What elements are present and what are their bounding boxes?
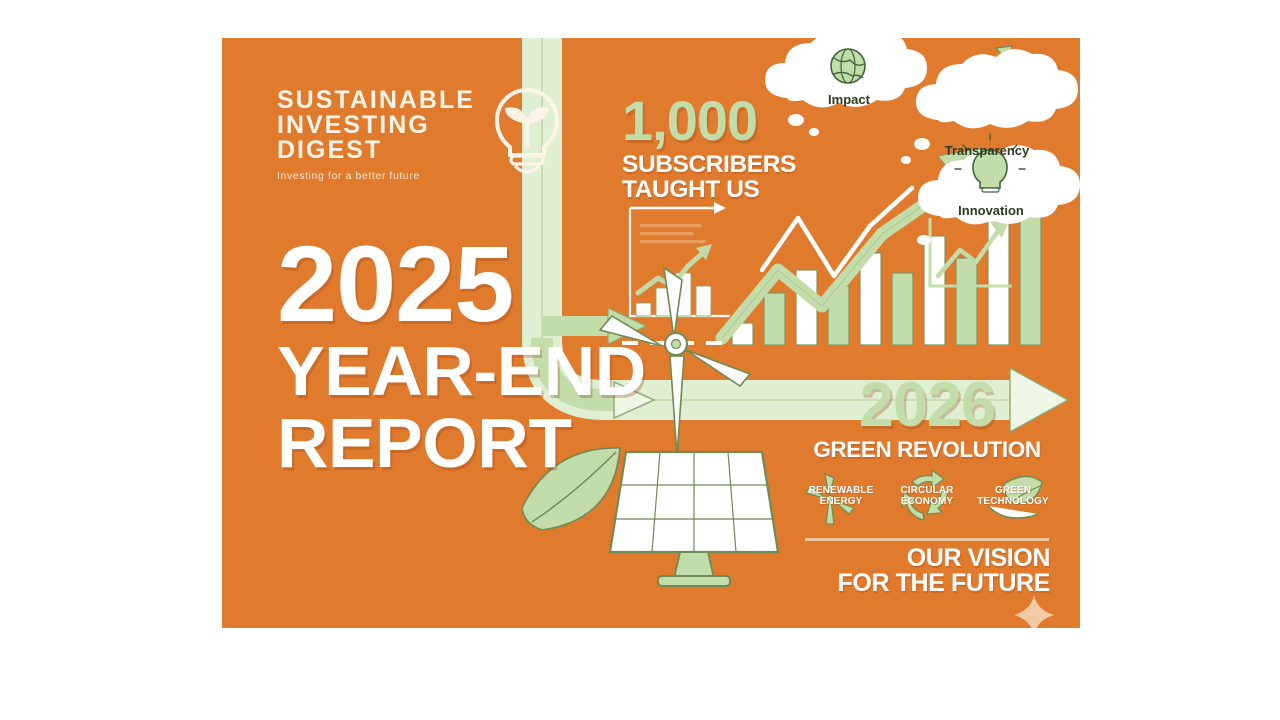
- pillar-green-technology[interactable]: GREEN TECHNOLOGY: [974, 483, 1052, 507]
- pillar-2-label-2: TECHNOLOGY: [974, 496, 1052, 507]
- pillars-group: RENEWABLE ENERGY CIRCULAR ECONOMY GREEN …: [802, 483, 1052, 507]
- future-subtitle: GREEN REVOLUTION: [802, 438, 1052, 461]
- pillar-0-label-2: ENERGY: [802, 496, 880, 507]
- future-year-block: 2026 GREEN REVOLUTION: [802, 378, 1052, 461]
- vision-line-2: FOR THE FUTURE: [782, 571, 1050, 596]
- pillar-1-label-2: ECONOMY: [888, 496, 966, 507]
- pillar-0-label-1: RENEWABLE: [802, 485, 880, 496]
- vision-line-1: OUR VISION: [782, 546, 1050, 571]
- pillar-1-label-1: CIRCULAR: [888, 485, 966, 496]
- four-point-sparkle-icon: [1012, 593, 1056, 628]
- lightbulb-sprout-icon: [481, 84, 573, 184]
- horizontal-rule: [805, 538, 1049, 541]
- subscribers-stat: 1,000 SUBSCRIBERS TAUGHT US: [622, 96, 802, 202]
- title-year: 2025: [277, 238, 657, 330]
- pillar-renewable-energy[interactable]: RENEWABLE ENERGY: [802, 483, 880, 507]
- subscribers-count: 1,000: [622, 96, 802, 146]
- title-line-2: YEAR-END: [277, 336, 665, 406]
- pillar-2-label-1: GREEN: [974, 485, 1052, 496]
- vision-statement: OUR VISION FOR THE FUTURE: [782, 546, 1050, 596]
- bubble-label-transparency: Transparency: [932, 143, 1042, 158]
- future-year: 2026: [802, 378, 1052, 433]
- mini-line-chart: [930, 218, 1012, 286]
- pillar-circular-economy[interactable]: CIRCULAR ECONOMY: [888, 483, 966, 507]
- subscribers-caption-2: TAUGHT US: [622, 177, 802, 202]
- title-line-3: REPORT: [277, 408, 665, 478]
- bubble-label-innovation: Innovation: [936, 203, 1046, 218]
- infographic-poster: .gfill { fill:#c2dcaa; } .gstroke { fill…: [222, 38, 1080, 628]
- transparency-chart-icon: [952, 46, 1012, 107]
- page-title: 2025 YEAR-END REPORT: [277, 238, 657, 478]
- bubble-label-impact: Impact: [814, 92, 884, 107]
- subscribers-caption-1: SUBSCRIBERS: [622, 152, 802, 177]
- screenshot-root: .gfill { fill:#c2dcaa; } .gstroke { fill…: [0, 0, 1280, 720]
- brand-logo[interactable]: SUSTAINABLE INVESTING DIGEST Investing f…: [277, 88, 567, 198]
